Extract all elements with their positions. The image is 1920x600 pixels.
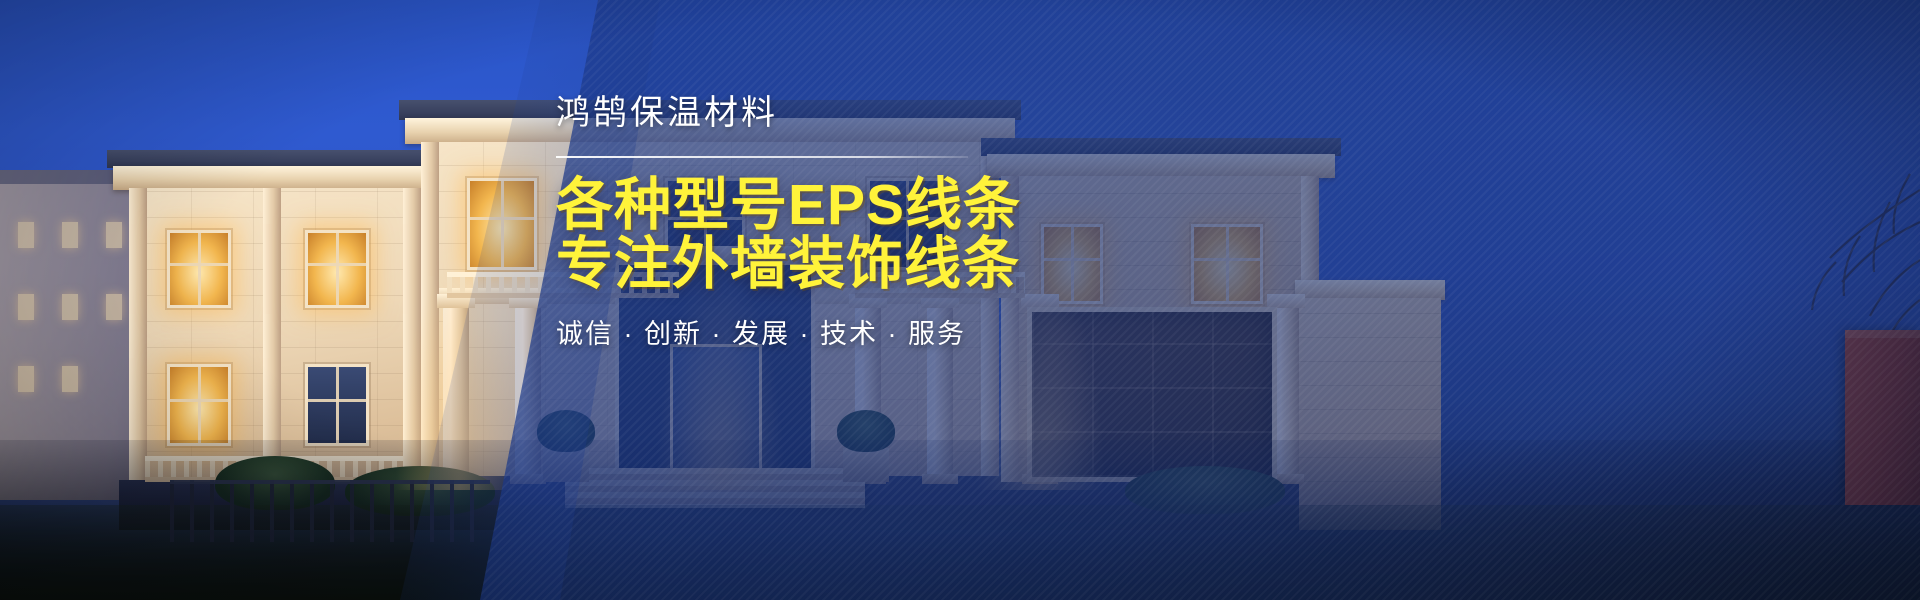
brand-name: 鸿鹄保温材料 — [556, 96, 1076, 130]
window-lit — [305, 230, 369, 308]
banner-copy: 鸿鹄保温材料 各种型号EPS线条 专注外墙装饰线条 诚信 · 创新 · 发展 ·… — [556, 96, 1076, 348]
headline-line-2: 专注外墙装饰线条 — [556, 235, 1076, 294]
headline-line-1: 各种型号EPS线条 — [556, 173, 1021, 237]
left-wing-cornice — [113, 166, 437, 190]
headline: 各种型号EPS线条 专注外墙装饰线条 — [556, 176, 1076, 295]
window — [305, 364, 369, 446]
divider-rule — [556, 156, 968, 158]
window-lit — [167, 230, 231, 308]
tagline: 诚信 · 创新 · 发展 · 技术 · 服务 — [556, 321, 1076, 348]
window-lit — [167, 364, 231, 446]
promo-banner: 鸿鹄保温材料 各种型号EPS线条 专注外墙装饰线条 诚信 · 创新 · 发展 ·… — [0, 0, 1920, 600]
